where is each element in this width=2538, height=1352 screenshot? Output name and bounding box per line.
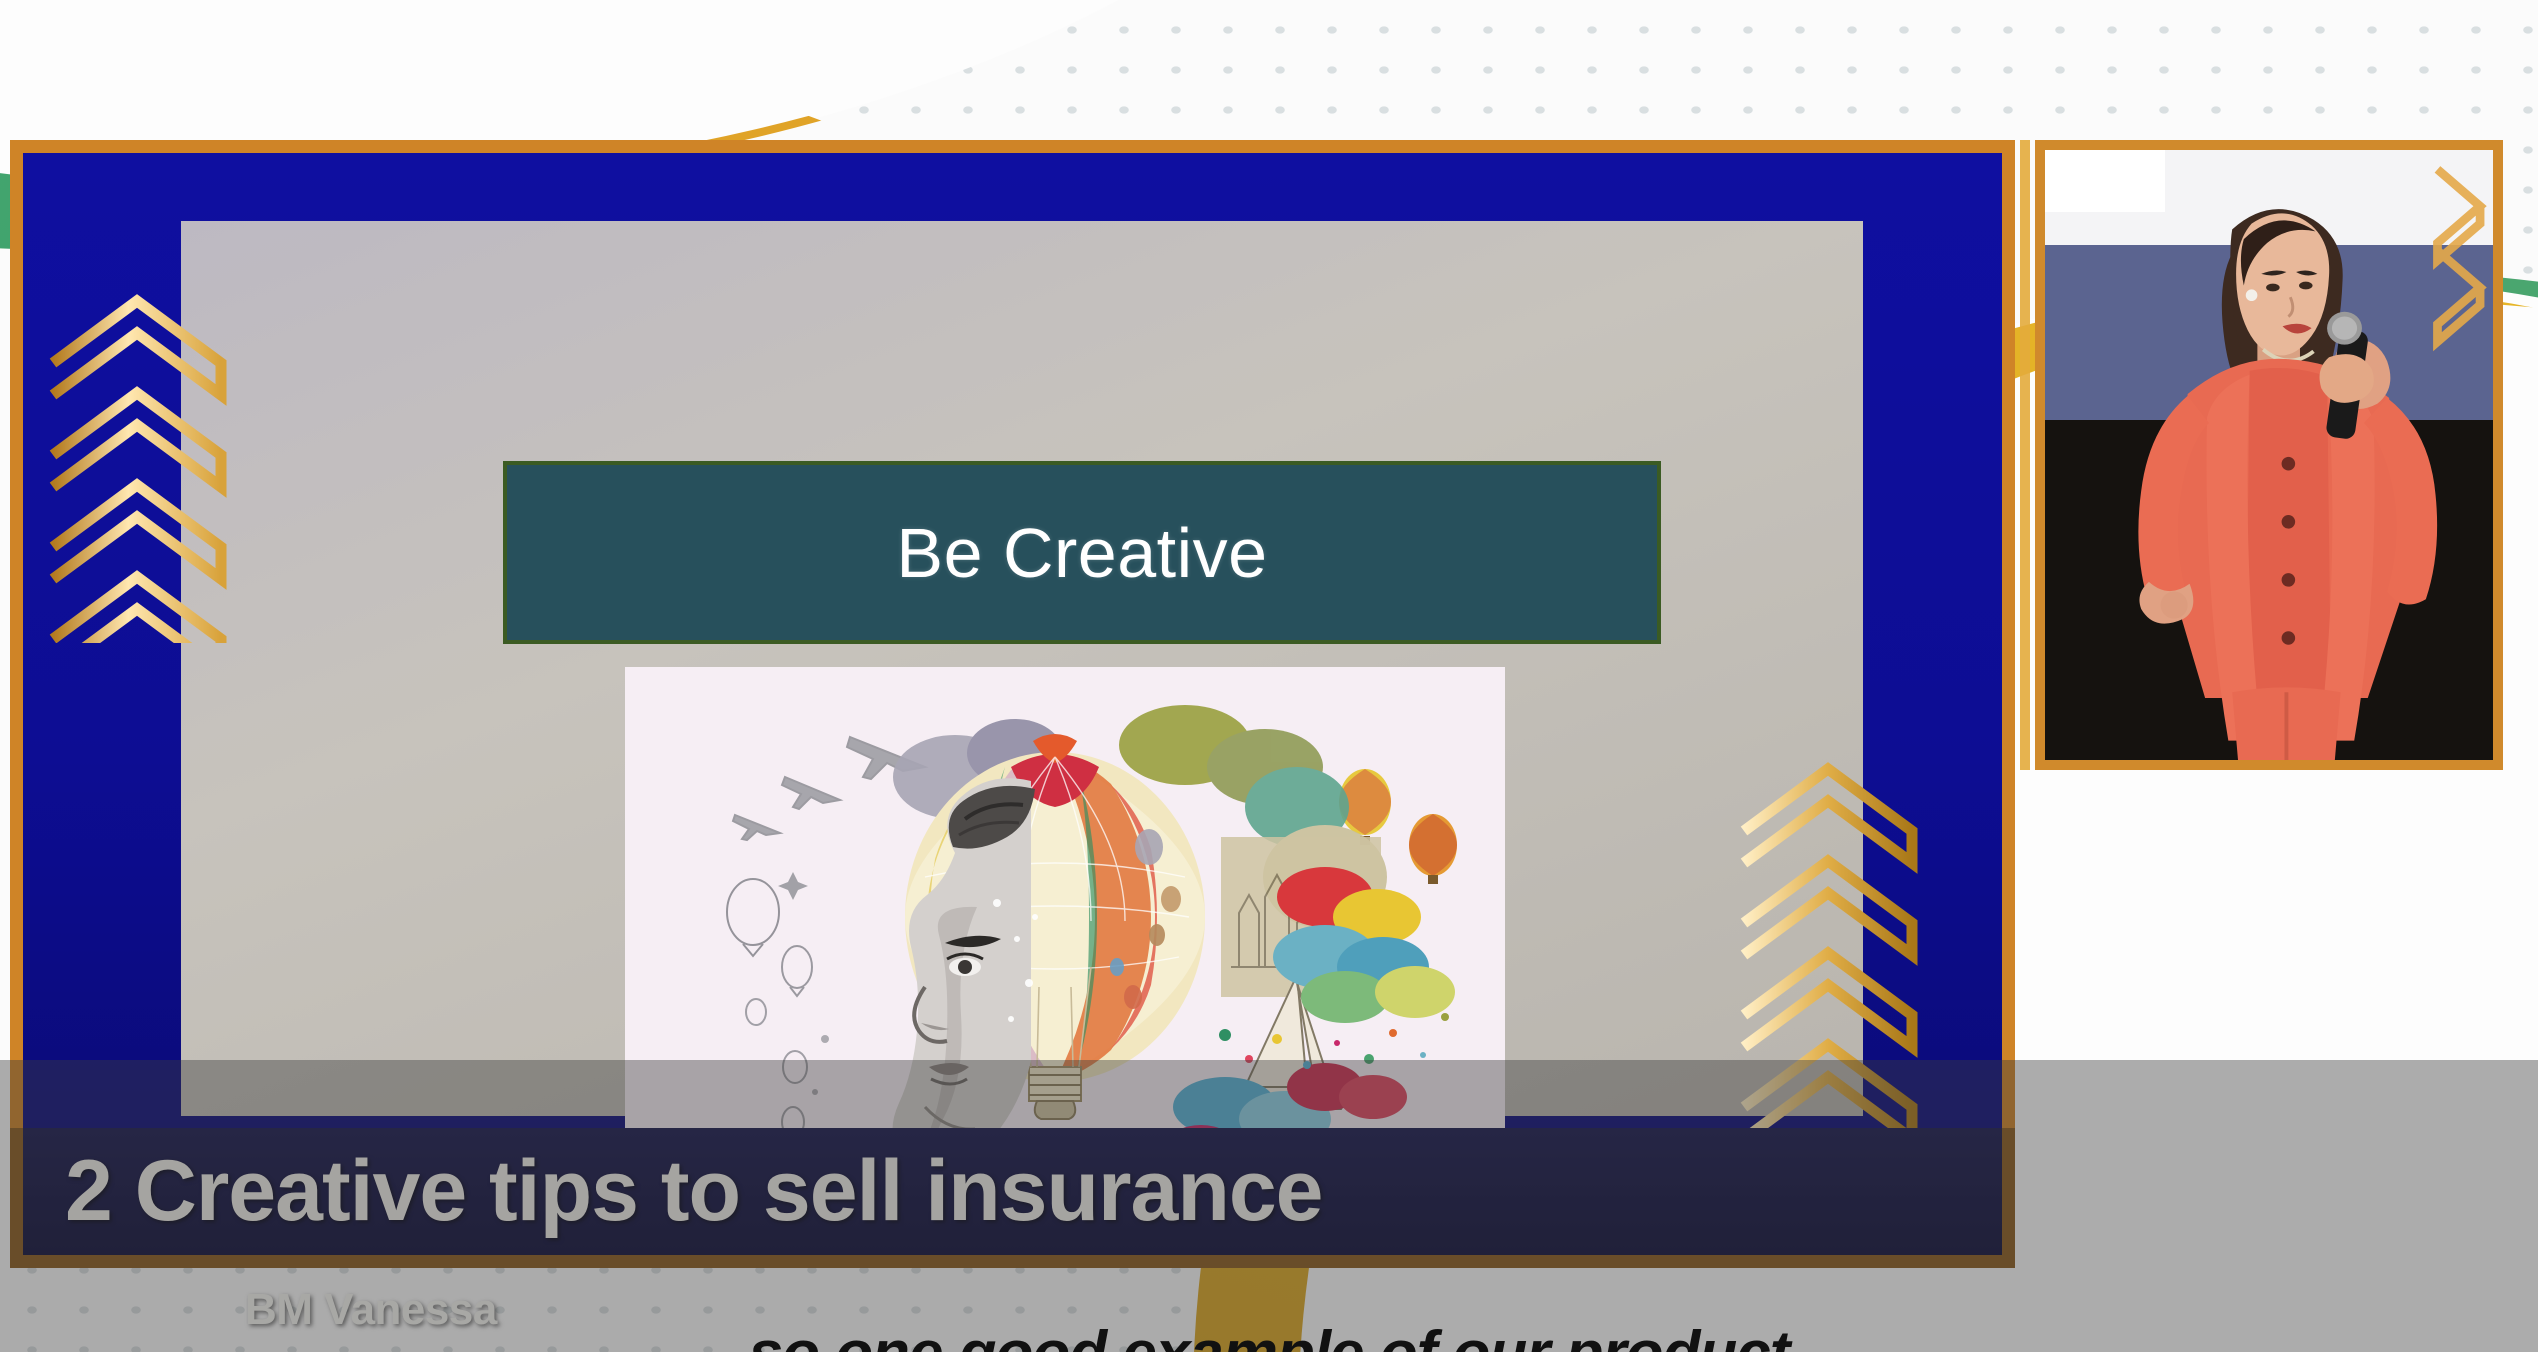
lower-third-scrim (0, 1060, 2538, 1352)
video-inset-gold-edge (2020, 140, 2030, 770)
slide-title-box: Be Creative (503, 461, 1661, 644)
slide-title-text: Be Creative (896, 513, 1267, 593)
live-caption-text: so one good example of our product (0, 1318, 2538, 1352)
broadcast-stage: Be Creative (0, 0, 2538, 1352)
presenter-figure-icon (2045, 150, 2493, 760)
speaker-video-inset[interactable] (2035, 140, 2503, 770)
